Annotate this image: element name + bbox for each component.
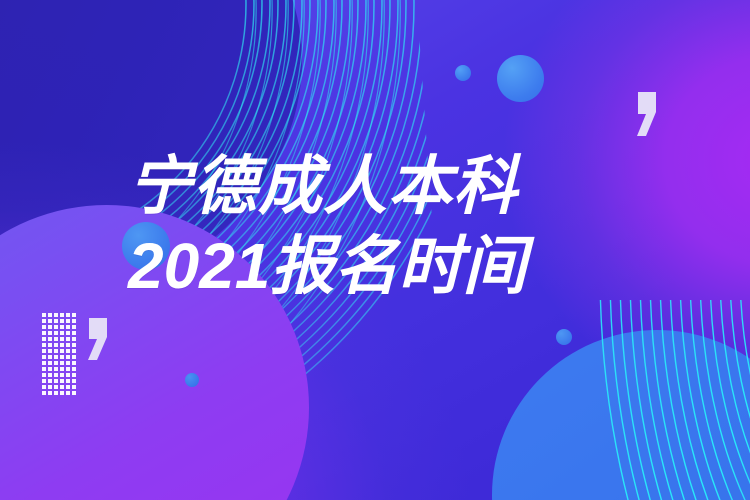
grid-dot <box>42 349 46 353</box>
closing-quote-icon-bottom-left <box>86 318 110 360</box>
grid-dot <box>60 325 64 329</box>
grid-dot <box>42 361 46 365</box>
grid-dot <box>72 385 76 389</box>
headline-block: 宁德成人本科 2021报名时间 <box>128 146 688 306</box>
grid-dot <box>48 361 52 365</box>
grid-dot <box>54 319 58 323</box>
grid-dot <box>48 355 52 359</box>
grid-dot <box>66 367 70 371</box>
grid-dot <box>42 379 46 383</box>
grid-dot <box>72 391 76 395</box>
grid-dot <box>72 343 76 347</box>
grid-dot <box>66 373 70 377</box>
grid-dot <box>48 373 52 377</box>
grid-dot <box>48 391 52 395</box>
grid-dot <box>72 331 76 335</box>
grid-dot <box>42 319 46 323</box>
grid-dot <box>66 391 70 395</box>
blue-dot-accent-top <box>455 65 471 81</box>
grid-dot <box>66 325 70 329</box>
grid-dot <box>48 367 52 371</box>
grid-dot <box>54 343 58 347</box>
grid-dot <box>60 373 64 377</box>
grid-dot <box>72 319 76 323</box>
grid-dot <box>72 355 76 359</box>
square-dot-grid <box>42 313 76 395</box>
grid-dot <box>60 391 64 395</box>
blue-dot-accent-right <box>556 329 572 345</box>
grid-dot <box>42 373 46 377</box>
grid-dot <box>66 349 70 353</box>
grid-dot <box>66 313 70 317</box>
grid-dot <box>60 313 64 317</box>
grid-dot <box>72 337 76 341</box>
headline-line-1: 宁德成人本科 <box>128 146 688 226</box>
grid-dot <box>48 331 52 335</box>
headline-line-2: 2021报名时间 <box>128 226 688 306</box>
grid-dot <box>48 385 52 389</box>
grid-dot <box>60 319 64 323</box>
grid-dot <box>42 313 46 317</box>
grid-dot <box>60 385 64 389</box>
promo-banner: 宁德成人本科 2021报名时间 <box>0 0 750 500</box>
grid-dot <box>54 313 58 317</box>
grid-dot <box>54 391 58 395</box>
closing-quote-icon-top-right <box>634 92 660 136</box>
grid-dot <box>60 331 64 335</box>
grid-dot <box>48 337 52 341</box>
grid-dot <box>54 337 58 341</box>
blue-dot-accent-bottom-left <box>185 373 199 387</box>
grid-dot <box>54 367 58 371</box>
grid-dot <box>48 379 52 383</box>
grid-dot <box>72 379 76 383</box>
grid-dot <box>60 343 64 347</box>
blue-circle-accent-top <box>497 55 544 102</box>
grid-dot <box>66 379 70 383</box>
grid-dot <box>72 361 76 365</box>
grid-dot <box>60 349 64 353</box>
grid-dot <box>48 325 52 329</box>
grid-dot <box>66 361 70 365</box>
grid-dot <box>42 331 46 335</box>
grid-dot <box>66 337 70 341</box>
grid-dot <box>42 367 46 371</box>
grid-dot <box>60 361 64 365</box>
grid-dot <box>54 385 58 389</box>
grid-dot <box>42 391 46 395</box>
cyan-wave-lines-bottom-right <box>560 300 750 500</box>
grid-dot <box>42 325 46 329</box>
grid-dot <box>54 361 58 365</box>
grid-dot <box>60 337 64 341</box>
grid-dot <box>42 337 46 341</box>
grid-dot <box>60 379 64 383</box>
grid-dot <box>72 325 76 329</box>
grid-dot <box>48 313 52 317</box>
grid-dot <box>54 373 58 377</box>
grid-dot <box>66 355 70 359</box>
grid-dot <box>42 385 46 389</box>
grid-dot <box>66 385 70 389</box>
grid-dot <box>72 367 76 371</box>
grid-dot <box>48 349 52 353</box>
grid-dot <box>54 331 58 335</box>
grid-dot <box>66 343 70 347</box>
grid-dot <box>54 325 58 329</box>
grid-dot <box>72 349 76 353</box>
grid-dot <box>54 349 58 353</box>
grid-dot <box>48 319 52 323</box>
grid-dot <box>60 367 64 371</box>
grid-dot <box>66 319 70 323</box>
grid-dot <box>42 355 46 359</box>
grid-dot <box>66 331 70 335</box>
grid-dot <box>42 343 46 347</box>
grid-dot <box>60 355 64 359</box>
grid-dot <box>72 313 76 317</box>
grid-dot <box>54 379 58 383</box>
grid-dot <box>72 373 76 377</box>
grid-dot <box>48 343 52 347</box>
grid-dot <box>54 355 58 359</box>
